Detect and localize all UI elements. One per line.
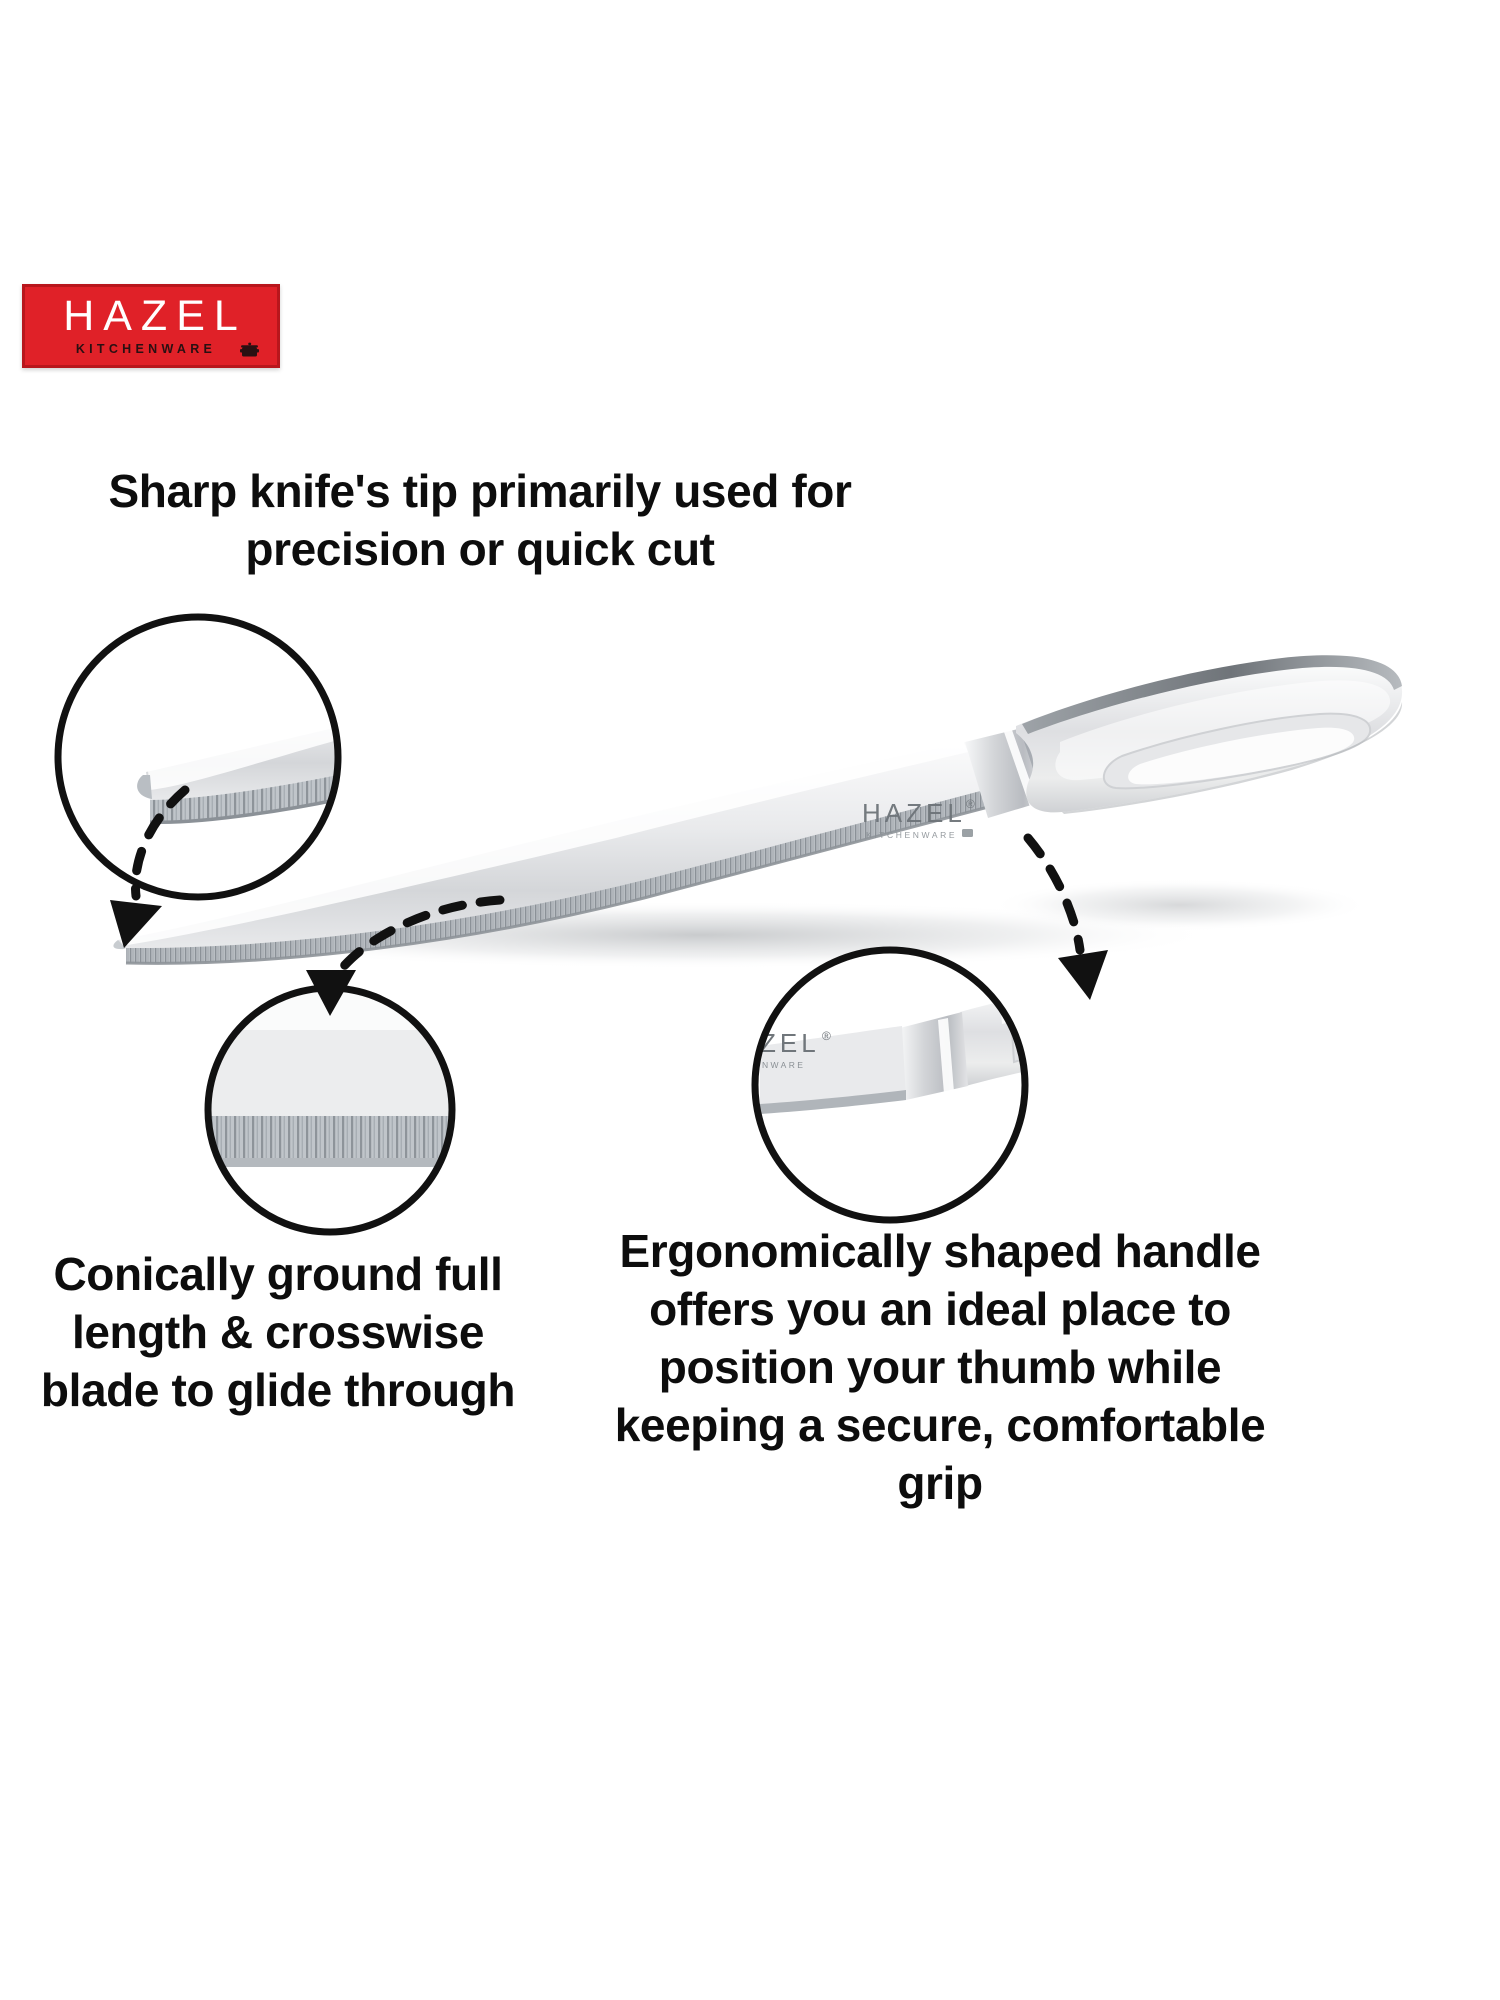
magnifier-ring-blade [208,988,452,1232]
knife-blade-body [118,742,988,948]
blade-etch-logo: HAZEL ® KITCHENWARE [862,797,975,840]
zoom-tip-edge [150,736,616,822]
blade-etch-pot-icon [962,829,973,837]
knife-handle [1016,657,1402,812]
blade-cutting-edge [126,806,992,963]
zoom-etch-fragment: ZEL [760,1028,820,1058]
arrow-dashed-handle [1028,838,1080,950]
handle-thumb-groove [1104,714,1370,789]
magnifier-blade-grind [200,988,470,1257]
zoom-bolster-highlight [938,1018,954,1094]
knife-shadow [180,901,1220,969]
arrow-dashed-tip [135,790,185,896]
handle-underside-shade [1062,702,1402,814]
callout-text-blade-grind: Conically ground full length & crosswise… [28,1245,528,1419]
infographic-canvas: HAZEL KITCHENWARE Sharp knife's tip prim… [0,0,1500,2000]
logo-wordmark: HAZEL [39,293,271,339]
brand-logo: HAZEL KITCHENWARE [22,284,282,370]
magnifier-handle: ZEL ® NWARE [755,950,1142,1220]
zoom-tip-grind [150,712,616,822]
bolster-shade [1020,728,1050,802]
zoom-blade-below [200,1167,470,1257]
zoom-tip-blade [146,668,612,800]
magnifier-ring-handle [755,950,1025,1220]
magnifier-knife-tip [58,617,616,897]
zoom-blade-top-light [200,990,470,1030]
handle-shadow [990,879,1370,931]
arrow-head-blade [306,970,356,1016]
blade-etch-wordmark: HAZEL [862,798,966,828]
blade-etch-tagline: KITCHENWARE [866,830,957,840]
zoom-handle-blade-stub [760,1026,906,1112]
thumb-groove-highlight [1128,728,1354,785]
zoom-etch-registered: ® [822,1029,831,1043]
zoom-blade-grind [200,1116,470,1160]
zoom-tip-highlight [148,667,604,790]
cooking-pot-icon [239,342,261,358]
bolster-highlight [1004,730,1038,807]
zoom-tip-point [137,775,152,799]
knife-tip [113,940,126,949]
knife-main: HAZEL ® KITCHENWARE [113,655,1402,963]
magnifier-ring-tip [58,617,338,897]
zoom-blade-edge [200,1158,470,1167]
zoom-thumb-groove [1012,1008,1142,1062]
zoom-bolster [900,1012,968,1100]
handle-spine [1022,655,1402,734]
logo-tagline: KITCHENWARE [39,342,253,356]
handle-gloss [1055,680,1390,780]
knife-bolster [965,728,1048,818]
arrow-dashed-blade [344,900,500,966]
blade-etch-registered: ® [966,797,975,811]
zoom-handle-gloss [1000,980,1134,1024]
zoom-handle-blade-edge [760,1090,906,1114]
arrow-head-tip [110,900,162,948]
zoom-blade-body [200,990,470,1116]
blade-spine-highlight [120,740,968,946]
zoom-handle-body [960,982,1128,1086]
blade-ground-bevel [126,789,992,963]
logo-red-plate: HAZEL KITCHENWARE [22,284,280,368]
arrow-head-handle [1058,950,1108,1000]
zoom-etch-tagline-fragment: NWARE [762,1060,805,1070]
callout-text-handle-ergonomics: Ergonomically shaped handle offers you a… [590,1222,1290,1512]
callout-text-knife-tip: Sharp knife's tip primarily used for pre… [50,462,910,578]
